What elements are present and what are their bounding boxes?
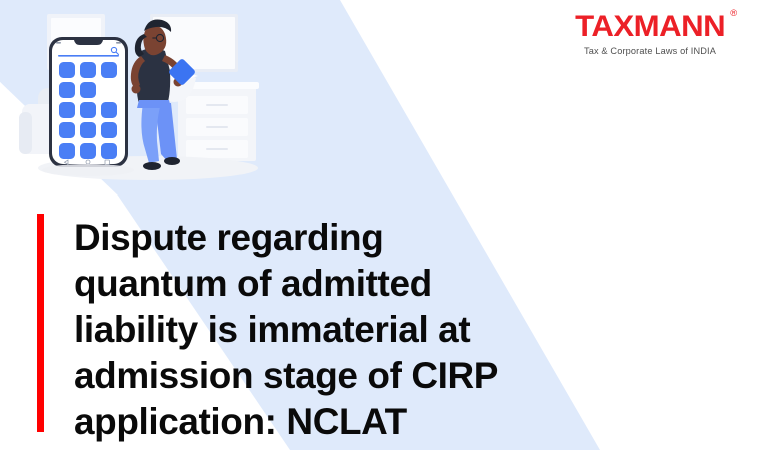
cabinet-drawer-handle-1 bbox=[206, 104, 228, 106]
phone-floor-shadow bbox=[42, 164, 134, 176]
app-icon bbox=[101, 62, 117, 78]
cabinet-drawer-handle-3 bbox=[206, 148, 228, 150]
page-title: Dispute regarding quantum of admitted li… bbox=[74, 214, 537, 444]
phone-search-bar bbox=[58, 55, 119, 57]
phone-sensor bbox=[116, 42, 121, 44]
logo-wordmark-text: TAXMANN® bbox=[575, 12, 725, 42]
app-icon bbox=[80, 62, 96, 78]
app-icon bbox=[59, 62, 75, 78]
app-icon bbox=[80, 102, 96, 118]
app-icon bbox=[80, 82, 96, 98]
app-icon bbox=[59, 122, 75, 138]
shoe-back bbox=[164, 157, 180, 165]
armchair-arm bbox=[19, 112, 32, 154]
registered-trademark-icon: ® bbox=[730, 9, 736, 18]
app-icon bbox=[101, 102, 117, 118]
phone-earpiece bbox=[56, 42, 61, 44]
app-icon bbox=[101, 143, 117, 159]
headline-block: Dispute regarding quantum of admitted li… bbox=[37, 214, 544, 444]
app-icon bbox=[101, 122, 117, 138]
headline-accent-bar bbox=[37, 214, 44, 432]
logo-wordmark-label: TAXMANN bbox=[575, 10, 725, 43]
app-icon bbox=[59, 143, 75, 159]
smartphone bbox=[49, 37, 128, 167]
phone-notch bbox=[74, 40, 103, 45]
cabinet-drawer-handle-2 bbox=[206, 126, 228, 128]
hero-illustration bbox=[0, 0, 300, 195]
taxmann-logo: TAXMANN® Tax & Corporate Laws of INDIA bbox=[560, 12, 740, 56]
logo-tagline: Tax & Corporate Laws of INDIA bbox=[560, 46, 740, 56]
hand-left bbox=[132, 85, 141, 94]
hips bbox=[137, 100, 171, 108]
shoe-front bbox=[143, 162, 161, 170]
app-icon bbox=[80, 143, 96, 159]
app-icon bbox=[80, 122, 96, 138]
app-icon bbox=[59, 102, 75, 118]
poster-canvas: TAXMANN® Tax & Corporate Laws of INDIA D… bbox=[0, 0, 768, 450]
app-icon bbox=[59, 82, 75, 98]
